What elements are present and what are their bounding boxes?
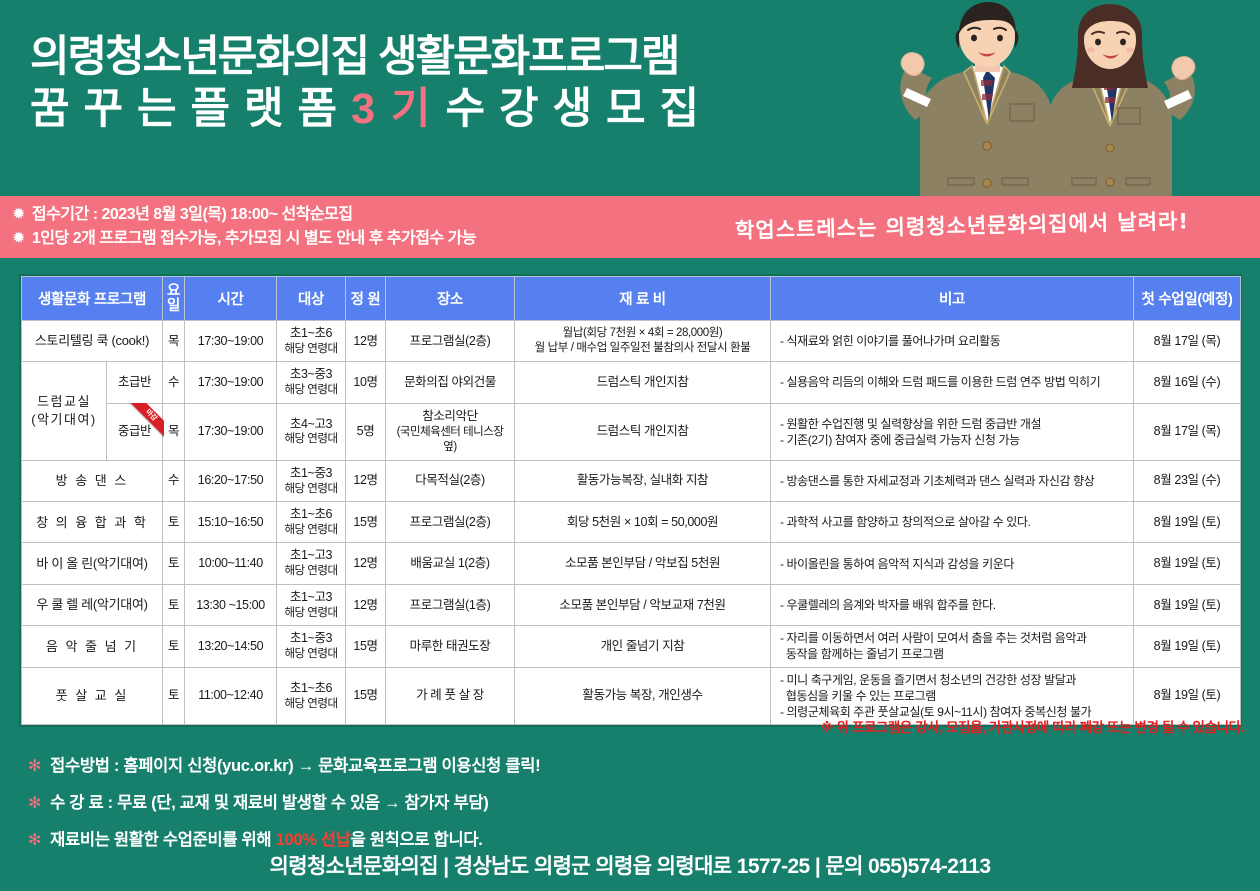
cell-place: 문화의집 야외건물 (386, 362, 515, 403)
cell-target: 초1~초6해당 연령대 (277, 667, 346, 725)
cell-capacity: 5명 (346, 403, 386, 460)
table-row: 우 쿨 렐 레(악기대여)토13:30 ~15:00초1~고3해당 연령대12명… (22, 584, 1241, 625)
footer-note-row: ✻수 강 료 : 무료 (단, 교재 및 재료비 발생할 수 있음 → 참가자 … (28, 789, 540, 813)
header-time: 시간 (185, 277, 277, 321)
cell-time: 17:30~19:00 (185, 362, 277, 403)
cell-fee: 월납(회당 7천원 × 4회 = 28,000원)월 납부 / 매수업 일주일전… (515, 321, 771, 362)
cell-notes: - 바이올린을 통하여 음악적 지식과 감성을 키운다 (771, 543, 1134, 584)
cell-first-class: 8월 19일 (토) (1134, 543, 1241, 584)
closed-ribbon-badge: 마감 (122, 403, 164, 445)
footer-contact-bar: 의령청소년문화의집 | 경상남도 의령군 의령읍 의령대로 1577-25 | … (0, 850, 1260, 880)
header-program: 생활문화 프로그램 (22, 277, 163, 321)
cell-first-class: 8월 17일 (목) (1134, 321, 1241, 362)
banner-row-1-text: 접수기간 : 2023년 8월 3일(목) 18:00~ 선착순모집 (32, 203, 353, 227)
cell-time: 16:20~17:50 (185, 460, 277, 501)
cell-place: 마루한 태권도장 (386, 626, 515, 667)
cell-capacity: 12명 (346, 460, 386, 501)
highlight-prepay: 100% 선납 (276, 831, 351, 849)
header-capacity: 정 원 (346, 277, 386, 321)
cell-program-name: 우 쿨 렐 레(악기대여) (22, 584, 163, 625)
cell-capacity: 12명 (346, 321, 386, 362)
cell-day: 토 (163, 502, 185, 543)
table-row: 음 악 줄 넘 기토13:20~14:50초1~중3해당 연령대15명마루한 태… (22, 626, 1241, 667)
cell-capacity: 15명 (346, 667, 386, 725)
title-cohort-badge: 3 기 (351, 85, 432, 133)
header-day: 요일 (163, 277, 185, 321)
cell-place: 프로그램실(2층) (386, 502, 515, 543)
cell-fee: 드럼스틱 개인지참 (515, 403, 771, 460)
footer-note-text: 수 강 료 : 무료 (단, 교재 및 재료비 발생할 수 있음 → 참가자 부… (50, 789, 488, 813)
header-first-class: 첫 수업일(예정) (1134, 277, 1241, 321)
footer-notes: ✻접수방법 : 홈페이지 신청(yuc.or.kr) → 문화교육프로그램 이용… (28, 752, 540, 863)
cell-target: 초3~중3해당 연령대 (277, 362, 346, 403)
cell-notes: - 실용음악 리듬의 이해와 드럼 패드를 이용한 드럼 연주 방법 익히기 (771, 362, 1134, 403)
cell-fee: 활동가능 복장, 개인생수 (515, 667, 771, 725)
cell-day: 목 (163, 403, 185, 460)
program-table-wrapper: 생활문화 프로그램 요일 시간 대상 정 원 장소 재 료 비 비고 첫 수업일… (19, 274, 1242, 727)
title-line-2-prefix: 꿈 꾸 는 플 랫 폼 (30, 85, 338, 133)
cell-target: 초1~초6해당 연령대 (277, 321, 346, 362)
cell-time: 11:00~12:40 (185, 667, 277, 725)
cell-fee: 활동가능복장, 실내화 지참 (515, 460, 771, 501)
banner-row-2-text: 1인당 2개 프로그램 접수가능, 추가모집 시 별도 안내 후 추가접수 가능 (32, 227, 476, 251)
footer-note-row: ✻재료비는 원활한 수업준비를 위해 100% 선납을 원칙으로 합니다. (28, 826, 540, 850)
cell-fee: 소모품 본인부담 / 악보교재 7천원 (515, 584, 771, 625)
cell-capacity: 12명 (346, 584, 386, 625)
cell-program-name: 드럼교실(악기대여) (22, 362, 107, 460)
info-banner: ✹ 접수기간 : 2023년 8월 3일(목) 18:00~ 선착순모집 ✹ 1… (0, 196, 1260, 258)
cell-day: 토 (163, 584, 185, 625)
table-row: 방 송 댄 스수16:20~17:50초1~중3해당 연령대12명다목적실(2층… (22, 460, 1241, 501)
cell-first-class: 8월 19일 (토) (1134, 502, 1241, 543)
asterisk-icon: ✻ (28, 796, 41, 812)
asterisk-icon: ✹ (12, 207, 25, 223)
handwritten-slogan: 학업스트레스는 의령청소년문화의집에서 날려라! (735, 205, 1189, 244)
cell-target: 초1~중3해당 연령대 (277, 626, 346, 667)
cell-place: 다목적실(2층) (386, 460, 515, 501)
cell-program-level: 초급반 (107, 362, 163, 403)
poster-root: 의령청소년문화의집 생활문화프로그램 꿈 꾸 는 플 랫 폼 3 기 수 강 생… (0, 0, 1260, 891)
cell-place: 프로그램실(1층) (386, 584, 515, 625)
cell-time: 13:20~14:50 (185, 626, 277, 667)
program-table-body: 스토리텔링 쿡 (cook!)목17:30~19:00초1~초6해당 연령대12… (22, 321, 1241, 725)
cell-fee: 소모품 본인부담 / 악보집 5천원 (515, 543, 771, 584)
cell-first-class: 8월 19일 (토) (1134, 584, 1241, 625)
cell-first-class: 8월 16일 (수) (1134, 362, 1241, 403)
table-row: 중급반마감목17:30~19:00초4~고3해당 연령대5명참소리악단(국민체육… (22, 403, 1241, 460)
table-header-row: 생활문화 프로그램 요일 시간 대상 정 원 장소 재 료 비 비고 첫 수업일… (22, 277, 1241, 321)
cell-program-name: 바 이 올 린(악기대여) (22, 543, 163, 584)
asterisk-icon: ✻ (28, 833, 41, 849)
cell-notes: - 자리를 이동하면서 여러 사람이 모여서 춤을 추는 것처럼 음악과 동작을… (771, 626, 1134, 667)
cell-time: 13:30 ~15:00 (185, 584, 277, 625)
header-place: 장소 (386, 277, 515, 321)
cell-notes: - 방송댄스를 통한 자세교정과 기초체력과 댄스 실력과 자신감 향상 (771, 460, 1134, 501)
table-row: 스토리텔링 쿡 (cook!)목17:30~19:00초1~초6해당 연령대12… (22, 321, 1241, 362)
cell-time: 17:30~19:00 (185, 403, 277, 460)
cell-time: 17:30~19:00 (185, 321, 277, 362)
cell-notes: - 과학적 사고를 함양하고 창의적으로 살아갈 수 있다. (771, 502, 1134, 543)
table-row: 창 의 융 합 과 학토15:10~16:50초1~초6해당 연령대15명프로그… (22, 502, 1241, 543)
banner-text-group: ✹ 접수기간 : 2023년 8월 3일(목) 18:00~ 선착순모집 ✹ 1… (0, 203, 476, 251)
title-line-2: 꿈 꾸 는 플 랫 폼 3 기 수 강 생 모 집 (30, 85, 880, 133)
poster-title: 의령청소년문화의집 생활문화프로그램 꿈 꾸 는 플 랫 폼 3 기 수 강 생… (30, 34, 880, 134)
header-fee: 재 료 비 (515, 277, 771, 321)
cell-capacity: 15명 (346, 626, 386, 667)
cell-time: 15:10~16:50 (185, 502, 277, 543)
banner-row-1: ✹ 접수기간 : 2023년 8월 3일(목) 18:00~ 선착순모집 (12, 203, 476, 227)
footer-note-row: ✻접수방법 : 홈페이지 신청(yuc.or.kr) → 문화교육프로그램 이용… (28, 752, 540, 776)
cell-target: 초1~고3해당 연령대 (277, 543, 346, 584)
title-line-1: 의령청소년문화의집 생활문화프로그램 (30, 34, 880, 80)
cell-place: 배움교실 1(2층) (386, 543, 515, 584)
table-row: 드럼교실(악기대여)초급반수17:30~19:00초3~중3해당 연령대10명문… (22, 362, 1241, 403)
cell-notes: - 원활한 수업진행 및 실력향상을 위한 드럼 중급반 개설- 기존(2기) … (771, 403, 1134, 460)
cell-day: 수 (163, 460, 185, 501)
cell-fee: 회당 5천원 × 10회 = 50,000원 (515, 502, 771, 543)
program-table: 생활문화 프로그램 요일 시간 대상 정 원 장소 재 료 비 비고 첫 수업일… (21, 276, 1241, 725)
cell-place: 프로그램실(2층) (386, 321, 515, 362)
cell-program-name: 음 악 줄 넘 기 (22, 626, 163, 667)
header-target: 대상 (277, 277, 346, 321)
cell-target: 초1~고3해당 연령대 (277, 584, 346, 625)
cell-day: 목 (163, 321, 185, 362)
title-line-2-suffix: 수 강 생 모 집 (445, 85, 700, 133)
cell-notes: - 우쿨렐레의 음계와 박자를 배워 합주를 한다. (771, 584, 1134, 625)
cell-day: 수 (163, 362, 185, 403)
cell-fee: 개인 줄넘기 지참 (515, 626, 771, 667)
cell-place: 가 례 풋 살 장 (386, 667, 515, 725)
cell-place: 참소리악단(국민체육센터 테니스장 옆) (386, 403, 515, 460)
asterisk-icon: ✹ (12, 231, 25, 247)
header-notes: 비고 (771, 277, 1134, 321)
footer-note-text: 접수방법 : 홈페이지 신청(yuc.or.kr) → 문화교육프로그램 이용신… (50, 752, 540, 776)
cell-capacity: 10명 (346, 362, 386, 403)
cell-first-class: 8월 17일 (목) (1134, 403, 1241, 460)
cell-day: 토 (163, 626, 185, 667)
banner-row-2: ✹ 1인당 2개 프로그램 접수가능, 추가모집 시 별도 안내 후 추가접수 … (12, 227, 476, 251)
cell-capacity: 15명 (346, 502, 386, 543)
cell-target: 초4~고3해당 연령대 (277, 403, 346, 460)
footer-note-text: 재료비는 원활한 수업준비를 위해 100% 선납을 원칙으로 합니다. (50, 826, 482, 850)
cell-first-class: 8월 19일 (토) (1134, 626, 1241, 667)
cell-fee: 드럼스틱 개인지참 (515, 362, 771, 403)
cell-program-level: 중급반마감 (107, 403, 163, 460)
caution-text: ※ 위 프로그램은 강사, 모집율, 기관사정에 따라 폐강 또는 변경 될 수… (820, 716, 1244, 736)
cell-day: 토 (163, 543, 185, 584)
cell-program-name: 스토리텔링 쿡 (cook!) (22, 321, 163, 362)
cell-time: 10:00~11:40 (185, 543, 277, 584)
cell-target: 초1~중3해당 연령대 (277, 460, 346, 501)
cell-program-name: 풋 살 교 실 (22, 667, 163, 725)
cell-target: 초1~초6해당 연령대 (277, 502, 346, 543)
cell-day: 토 (163, 667, 185, 725)
cell-capacity: 12명 (346, 543, 386, 584)
cell-program-name: 창 의 융 합 과 학 (22, 502, 163, 543)
cell-program-name: 방 송 댄 스 (22, 460, 163, 501)
students-illustration (860, 0, 1260, 200)
asterisk-icon: ✻ (28, 759, 41, 775)
table-row: 바 이 올 린(악기대여)토10:00~11:40초1~고3해당 연령대12명배… (22, 543, 1241, 584)
cell-notes: - 식재료와 얽힌 이야기를 풀어나가며 요리활동 (771, 321, 1134, 362)
cell-first-class: 8월 23일 (수) (1134, 460, 1241, 501)
